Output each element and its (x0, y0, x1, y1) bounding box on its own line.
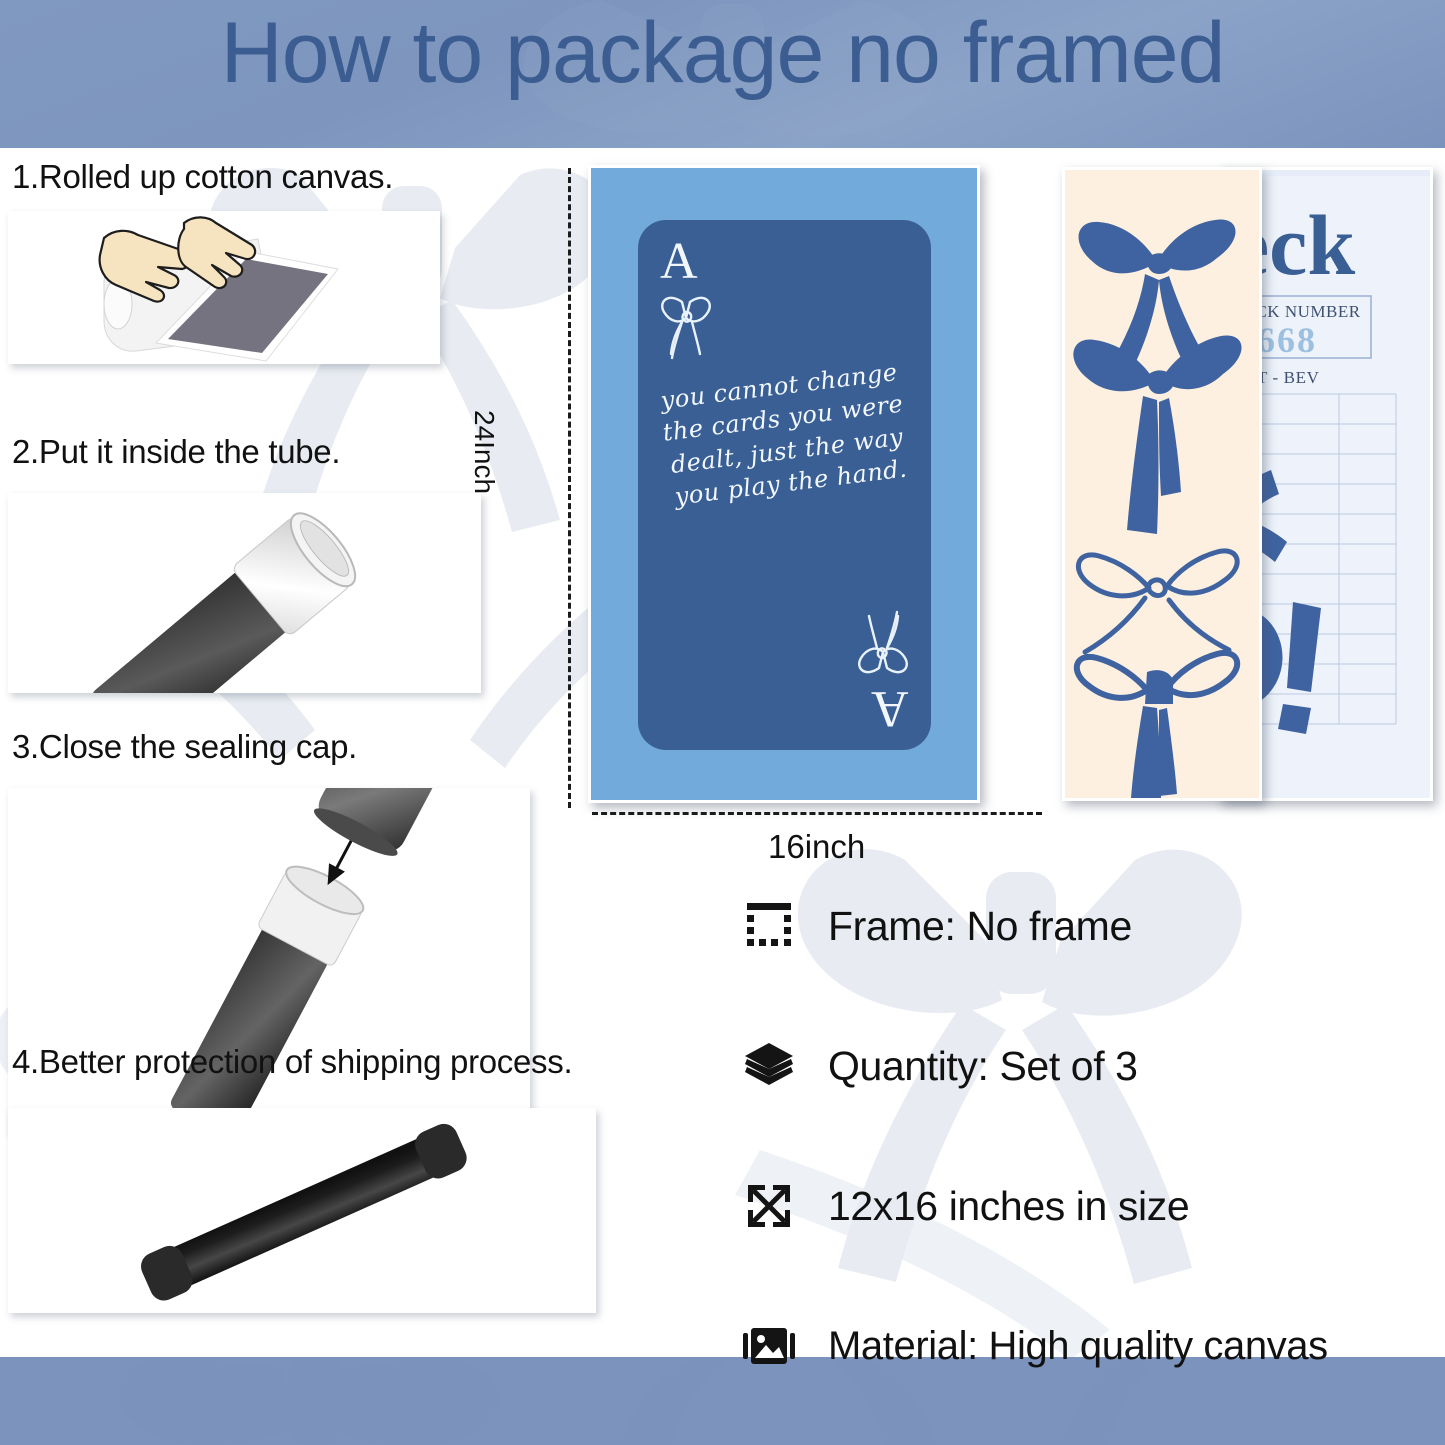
bows-poster (1062, 167, 1262, 801)
product-spec-list: Frame: No frame Quantity: Set of 3 (740, 878, 1440, 1438)
step-3-photo (8, 788, 530, 1133)
open-shipping-tube-icon (8, 493, 481, 693)
bow-outline-top-icon (656, 284, 718, 364)
bow-outline-bottom-icon (851, 606, 913, 686)
spec-label-frame: Frame: No frame (828, 903, 1132, 950)
step-3-label: 3.Close the sealing cap. (12, 728, 357, 766)
step-1-label: 1.Rolled up cotton canvas. (12, 158, 393, 196)
spec-label-quantity: Quantity: Set of 3 (828, 1043, 1138, 1090)
spec-row-quantity: Quantity: Set of 3 (740, 1018, 1440, 1114)
bows-artwork (1065, 170, 1262, 801)
spec-row-material: Material: High quality canvas (740, 1298, 1440, 1394)
image-icon (740, 1317, 798, 1375)
ace-letter-top-left: A (660, 236, 698, 288)
header-banner: How to package no framed (0, 0, 1445, 148)
spec-label-size: 12x16 inches in size (828, 1183, 1189, 1230)
ace-letter-bottom-right: A (871, 682, 909, 734)
frame-icon (740, 897, 798, 955)
ace-of-bows-poster: A you cannot change the cards you were d… (588, 165, 980, 803)
spec-row-size: 12x16 inches in size (740, 1158, 1440, 1254)
playing-card-face: A you cannot change the cards you were d… (638, 220, 931, 750)
sealed-black-tube-icon (8, 1108, 596, 1313)
hands-rolling-canvas-icon (8, 211, 440, 364)
spec-label-material: Material: High quality canvas (828, 1324, 1328, 1369)
horizontal-dimension-label: 16inch (768, 828, 865, 866)
vertical-dimension-label: 24Inch (468, 410, 500, 494)
infographic-canvas: How to package no framed 1.Rolled up cot… (0, 0, 1445, 1445)
step-1-photo (8, 211, 440, 364)
resize-icon (740, 1177, 798, 1235)
step-2-label: 2.Put it inside the tube. (12, 433, 340, 471)
vertical-dimension-line (568, 168, 571, 808)
poster-quote-text: you cannot change the cards you were dea… (647, 355, 923, 516)
layers-icon (740, 1037, 798, 1095)
step-2-photo (8, 493, 481, 693)
step-4-label: 4.Better protection of shipping process. (12, 1043, 572, 1081)
step-4-photo (8, 1108, 596, 1313)
tube-with-cap-icon (8, 788, 530, 1133)
spec-row-frame: Frame: No frame (740, 878, 1440, 974)
horizontal-dimension-line (592, 812, 1042, 815)
page-title: How to package no framed (0, 10, 1445, 96)
